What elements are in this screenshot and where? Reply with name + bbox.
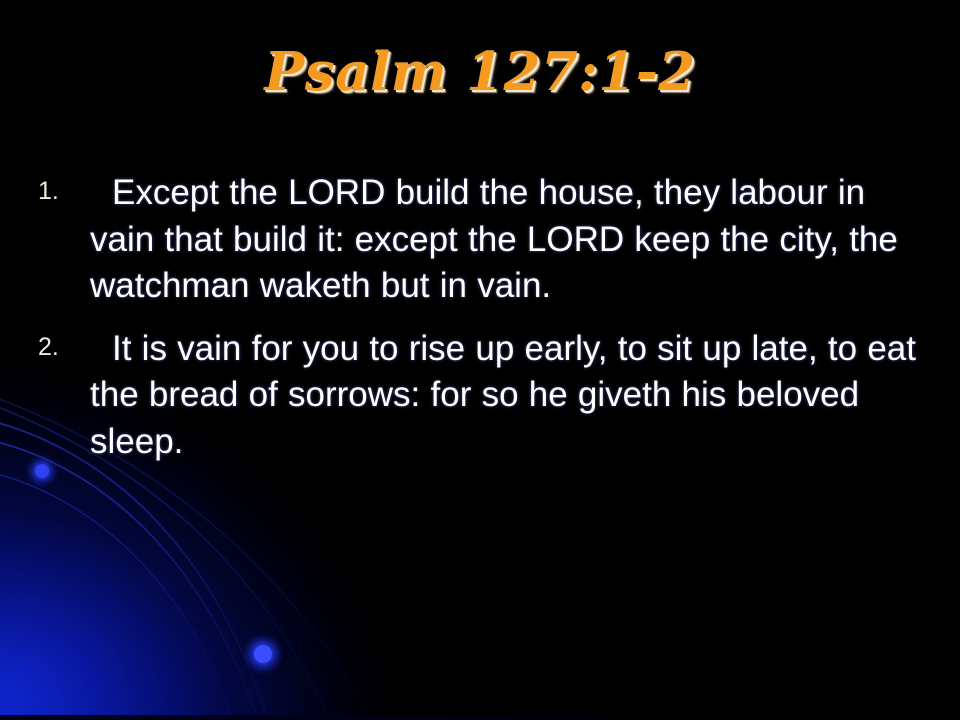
node-lower <box>254 645 272 663</box>
list-item-number: 2. <box>38 332 80 362</box>
arc-inner <box>0 470 232 720</box>
list-item-number: 1. <box>38 176 80 206</box>
presentation-slide: Psalm 127:1-2 1. Except the LORD build t… <box>0 0 960 720</box>
slide-bottom-edge <box>0 715 960 720</box>
list-item-text: Except the LORD build the house, they la… <box>90 170 938 310</box>
scripture-list: 1. Except the LORD build the house, they… <box>22 170 938 481</box>
list-item: 2. It is vain for you to rise up early, … <box>22 326 938 466</box>
list-item: 1. Except the LORD build the house, they… <box>22 170 938 310</box>
node-lower-glow <box>242 633 284 675</box>
slide-title: Psalm 127:1-2 <box>0 40 960 104</box>
list-item-text: It is vain for you to rise up early, to … <box>90 326 938 466</box>
